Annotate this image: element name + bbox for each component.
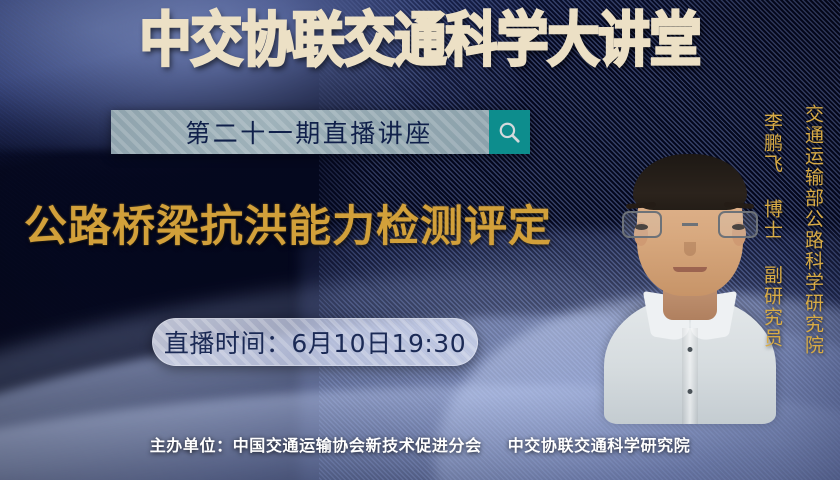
- lecture-title: 公路桥梁抗洪能力检测评定: [24, 205, 552, 250]
- broadcast-time-text: 直播时间：6月10日19:30: [164, 324, 466, 360]
- organizer-secondary: 中交协联交通科学研究院: [508, 436, 691, 455]
- organizer-primary: 主办单位：中国交通运输协会新技术促进分会: [150, 436, 482, 455]
- episode-banner: 第二十一期直播讲座: [111, 110, 530, 154]
- live-stream-poster: 中交协联交通科学大讲堂 第二十一期直播讲座 公路桥梁抗洪能力检测评定 直播时间：…: [0, 0, 840, 480]
- page-title: 中交协联交通科学大讲堂: [0, 12, 840, 70]
- broadcast-time-badge: 直播时间：6月10日19:30: [152, 318, 478, 366]
- organizer-bar: 主办单位：中国交通运输协会新技术促进分会中交协联交通科学研究院: [0, 432, 840, 456]
- episode-label: 第二十一期直播讲座: [111, 110, 489, 154]
- speaker-name-title: 李鹏飞 博士 副研究员: [759, 112, 786, 349]
- search-icon: [497, 120, 522, 145]
- search-button[interactable]: [489, 110, 530, 154]
- speaker-organization: 交通运输部公路科学研究院: [800, 104, 827, 356]
